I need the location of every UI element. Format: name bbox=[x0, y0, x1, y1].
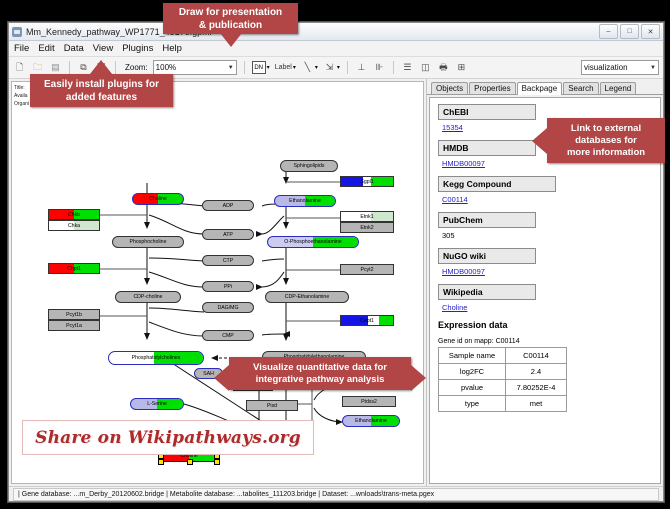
node-pcyt1a[interactable]: Pcyt1a bbox=[48, 320, 100, 331]
link-nugo[interactable]: HMDB00097 bbox=[442, 267, 660, 276]
node-etnk1[interactable]: Etnk1 bbox=[340, 211, 394, 222]
zoom-value: 100% bbox=[156, 63, 176, 72]
menu-item-view[interactable]: View bbox=[93, 43, 113, 54]
value-pubchem: 305 bbox=[442, 231, 660, 240]
close-button[interactable]: ✕ bbox=[641, 24, 660, 39]
visualization-combo[interactable]: visualization ▼ bbox=[581, 60, 659, 75]
chevron-down-icon: ▾ bbox=[293, 64, 296, 71]
tab-backpage[interactable]: Backpage bbox=[517, 82, 563, 95]
expression-half-green bbox=[379, 316, 393, 325]
callout-share: Share on Wikipathways.org bbox=[22, 420, 314, 455]
node-chkb[interactable]: Chkb bbox=[48, 209, 100, 220]
order-icon[interactable]: ⊞ bbox=[455, 61, 468, 74]
node-label: Chkb bbox=[68, 212, 80, 218]
window-controls: – □ ✕ bbox=[599, 24, 660, 39]
node-label: Ethanolamine bbox=[355, 418, 387, 424]
line-icon: ╲ bbox=[301, 61, 314, 74]
node-etnk2[interactable]: Etnk2 bbox=[340, 222, 394, 233]
menu-item-plugins[interactable]: Plugins bbox=[122, 43, 153, 54]
selection-handle[interactable] bbox=[158, 459, 164, 465]
stack-icon[interactable]: ☰ bbox=[401, 61, 414, 74]
toolbar-divider bbox=[244, 61, 245, 74]
callout-draw: Draw for presentation & publication bbox=[163, 3, 298, 34]
node-o-phosphoethanolamine[interactable]: O-Phosphoethanolamine bbox=[267, 236, 359, 248]
section-header-nugo: NuGO wiki bbox=[438, 248, 536, 264]
node-ppi[interactable]: PPi bbox=[202, 281, 254, 292]
print-icon[interactable]: 🖶 bbox=[437, 61, 450, 74]
section-header-wikipedia: Wikipedia bbox=[438, 284, 536, 300]
gene-id-line: Gene id on mapp: C00114 bbox=[438, 338, 660, 345]
node-cept1[interactable]: Cept1 bbox=[340, 315, 394, 326]
node-pcyt2[interactable]: Pcyt2 bbox=[340, 264, 394, 275]
save-icon[interactable]: ▤ bbox=[49, 61, 62, 74]
node-ethanolamine-right[interactable]: Ethanolamine bbox=[342, 415, 400, 427]
node-label: Ptdss2 bbox=[361, 399, 377, 405]
node-label: Etnk2 bbox=[360, 225, 373, 231]
line-dropdown[interactable]: ╲ ▾ bbox=[301, 61, 318, 74]
label-dropdown[interactable]: Label ▾ bbox=[275, 64, 296, 71]
node-adp[interactable]: ADP bbox=[202, 200, 254, 211]
tab-objects[interactable]: Objects bbox=[431, 82, 468, 94]
status-text: | Gene database: ...m_Derby_20120602.bri… bbox=[13, 488, 659, 501]
chevron-down-icon: ▼ bbox=[228, 65, 234, 71]
zoom-label: Zoom: bbox=[125, 63, 148, 72]
node-cdp-choline[interactable]: CDP-choline bbox=[115, 291, 181, 303]
node-label: CDP-choline bbox=[133, 294, 162, 300]
node-label: Choline bbox=[149, 196, 167, 202]
cell-value: 2.4 bbox=[506, 364, 567, 380]
maximize-button[interactable]: □ bbox=[620, 24, 639, 39]
node-choline-top[interactable]: Choline bbox=[132, 193, 184, 205]
node-ptdss2[interactable]: Ptdss2 bbox=[342, 396, 396, 407]
menu-item-file[interactable]: File bbox=[14, 43, 29, 54]
cell-value: 7.80252E-4 bbox=[506, 380, 567, 396]
cell-value: met bbox=[506, 396, 567, 412]
app-icon bbox=[12, 27, 22, 37]
node-label: Phosphocholine bbox=[130, 239, 167, 245]
cell-key: type bbox=[439, 396, 506, 412]
chevron-down-icon: ▾ bbox=[315, 64, 318, 71]
node-label: CDP-Ethanolamine bbox=[285, 294, 329, 300]
expression-half-green bbox=[371, 212, 393, 221]
new-file-icon[interactable]: 🗋 bbox=[13, 61, 26, 74]
node-label: Ethanolamine bbox=[289, 198, 321, 204]
cell-key: pvalue bbox=[439, 380, 506, 396]
link-wikipedia[interactable]: Choline bbox=[442, 303, 660, 312]
node-label: O-Phosphoethanolamine bbox=[284, 239, 341, 245]
node-phosphocholine[interactable]: Phosphocholine bbox=[112, 236, 184, 248]
toolbar-divider bbox=[115, 61, 116, 74]
table-row: pvalue 7.80252E-4 bbox=[439, 380, 567, 396]
callout-visualize: Visualize quantitative data for integrat… bbox=[229, 357, 411, 390]
node-cmp[interactable]: CMP bbox=[202, 330, 254, 341]
node-chpt1[interactable]: Chpt1 bbox=[48, 263, 100, 274]
table-row: type met bbox=[439, 396, 567, 412]
node-label: Chpt1 bbox=[67, 266, 81, 272]
label-dropdown-label: Label bbox=[275, 64, 292, 71]
cell-key: log2FC bbox=[439, 364, 506, 380]
distribute-icon[interactable]: ◫ bbox=[419, 61, 432, 74]
section-header-hmdb: HMDB bbox=[438, 140, 536, 156]
chevron-down-icon: ▾ bbox=[267, 64, 270, 71]
node-label: SAH bbox=[203, 371, 214, 377]
tab-search[interactable]: Search bbox=[563, 82, 598, 94]
cell-key: Sample name bbox=[439, 348, 506, 364]
section-header-pubchem: PubChem bbox=[438, 212, 536, 228]
node-l-serine-left[interactable]: L-Serine bbox=[130, 398, 184, 410]
node-label: Chka bbox=[68, 223, 80, 229]
status-bar: | Gene database: ...m_Derby_20120602.bri… bbox=[9, 486, 663, 501]
callout-visualize-arrow-icon bbox=[411, 365, 426, 391]
callout-plugins: Easily install plugins for added feature… bbox=[30, 74, 173, 107]
node-label: Cept1 bbox=[360, 318, 374, 324]
share-text: Share on Wikipathways.org bbox=[35, 428, 301, 448]
callout-external-arrow-icon bbox=[532, 128, 547, 154]
cell-value: C00114 bbox=[506, 348, 567, 364]
datanode-icon: DN bbox=[252, 61, 266, 74]
node-phosphatidylcholines[interactable]: Phosphatidylcholines bbox=[108, 351, 204, 365]
node-ctp[interactable]: CTP bbox=[202, 255, 254, 266]
node-sgpl1[interactable]: Sgpl1 bbox=[340, 176, 394, 187]
link-kegg[interactable]: C00114 bbox=[442, 195, 660, 204]
tab-properties[interactable]: Properties bbox=[469, 82, 515, 94]
datanode-dropdown[interactable]: DN ▾ bbox=[252, 61, 270, 74]
selection-handle[interactable] bbox=[187, 459, 193, 465]
node-cdp-ethanolamine[interactable]: CDP-Ethanolamine bbox=[265, 291, 349, 303]
visualization-value: visualization bbox=[584, 63, 628, 72]
section-header-chebi: ChEBI bbox=[438, 104, 536, 120]
expression-half-green bbox=[371, 177, 393, 186]
node-label: Phosphatidylcholines bbox=[132, 355, 181, 361]
node-ethanolamine-top[interactable]: Ethanolamine bbox=[274, 195, 336, 207]
expression-data-heading: Expression data bbox=[438, 320, 660, 330]
callout-plugins-arrow-icon bbox=[90, 60, 112, 74]
menu-item-help[interactable]: Help bbox=[162, 43, 182, 54]
node-label: Pcyt1b bbox=[66, 312, 82, 318]
node-label: CTP bbox=[223, 258, 233, 264]
tab-legend[interactable]: Legend bbox=[600, 82, 637, 94]
minimize-button[interactable]: – bbox=[599, 24, 618, 39]
connector-icon: ⇲ bbox=[323, 61, 336, 74]
node-label: Pcyt2 bbox=[361, 267, 374, 273]
callout-external-links: Link to external databases for more info… bbox=[547, 118, 665, 163]
menu-bar: File Edit Data View Plugins Help bbox=[9, 41, 663, 57]
anchor-dropdown[interactable]: ⇲ ▾ bbox=[323, 61, 340, 74]
node-label: Pcyt1a bbox=[66, 323, 82, 329]
align-left-icon[interactable]: ⊪ bbox=[373, 61, 386, 74]
node-label: L-Serine bbox=[147, 401, 167, 407]
table-row: Sample name C00114 bbox=[439, 348, 567, 364]
open-folder-icon[interactable]: 🗀 bbox=[31, 61, 44, 74]
menu-item-edit[interactable]: Edit bbox=[38, 43, 54, 54]
toolbar-divider bbox=[393, 61, 394, 74]
node-label: DAG/MG bbox=[217, 305, 238, 311]
side-panel-tabs: Objects Properties Backpage Search Legen… bbox=[427, 79, 663, 95]
node-label: CMP bbox=[222, 333, 234, 339]
expression-table: Sample name C00114 log2FC 2.4 pvalue 7.8… bbox=[438, 347, 567, 412]
menu-item-data[interactable]: Data bbox=[64, 43, 84, 54]
node-label: PPi bbox=[224, 284, 232, 290]
node-atp[interactable]: ATP bbox=[202, 229, 254, 240]
copy-icon[interactable]: ⧉ bbox=[77, 61, 90, 74]
zoom-combo[interactable]: 100% ▼ bbox=[153, 60, 237, 75]
selection-handle[interactable] bbox=[214, 459, 220, 465]
node-label: Etnk1 bbox=[360, 214, 373, 220]
node-label: ATP bbox=[223, 232, 233, 238]
node-label: ADP bbox=[223, 203, 234, 209]
node-label: Sphingolipids bbox=[294, 163, 325, 169]
table-row: log2FC 2.4 bbox=[439, 364, 567, 380]
title-bar: Mm_Kennedy_pathway_WP1771_45176.gpml – □… bbox=[9, 23, 663, 41]
chevron-down-icon: ▼ bbox=[650, 65, 656, 71]
callout-visualize-arrow-left-icon bbox=[214, 365, 229, 391]
node-dag-mag[interactable]: DAG/MG bbox=[202, 302, 254, 313]
node-pcyt1b[interactable]: Pcyt1b bbox=[48, 309, 100, 320]
node-label: Pisd bbox=[267, 403, 277, 409]
node-chka[interactable]: Chka bbox=[48, 220, 100, 231]
node-label: Sgpl1 bbox=[360, 179, 373, 185]
toolbar-divider bbox=[69, 61, 70, 74]
section-header-kegg: Kegg Compound bbox=[438, 176, 556, 192]
callout-draw-arrow-icon bbox=[220, 33, 242, 47]
chevron-down-icon: ▾ bbox=[337, 64, 340, 71]
toolbar-divider bbox=[347, 61, 348, 74]
align-center-icon[interactable]: ⊥ bbox=[355, 61, 368, 74]
node-pisd[interactable]: Pisd bbox=[246, 400, 298, 411]
node-sphingolipids[interactable]: Sphingolipids bbox=[280, 160, 338, 172]
